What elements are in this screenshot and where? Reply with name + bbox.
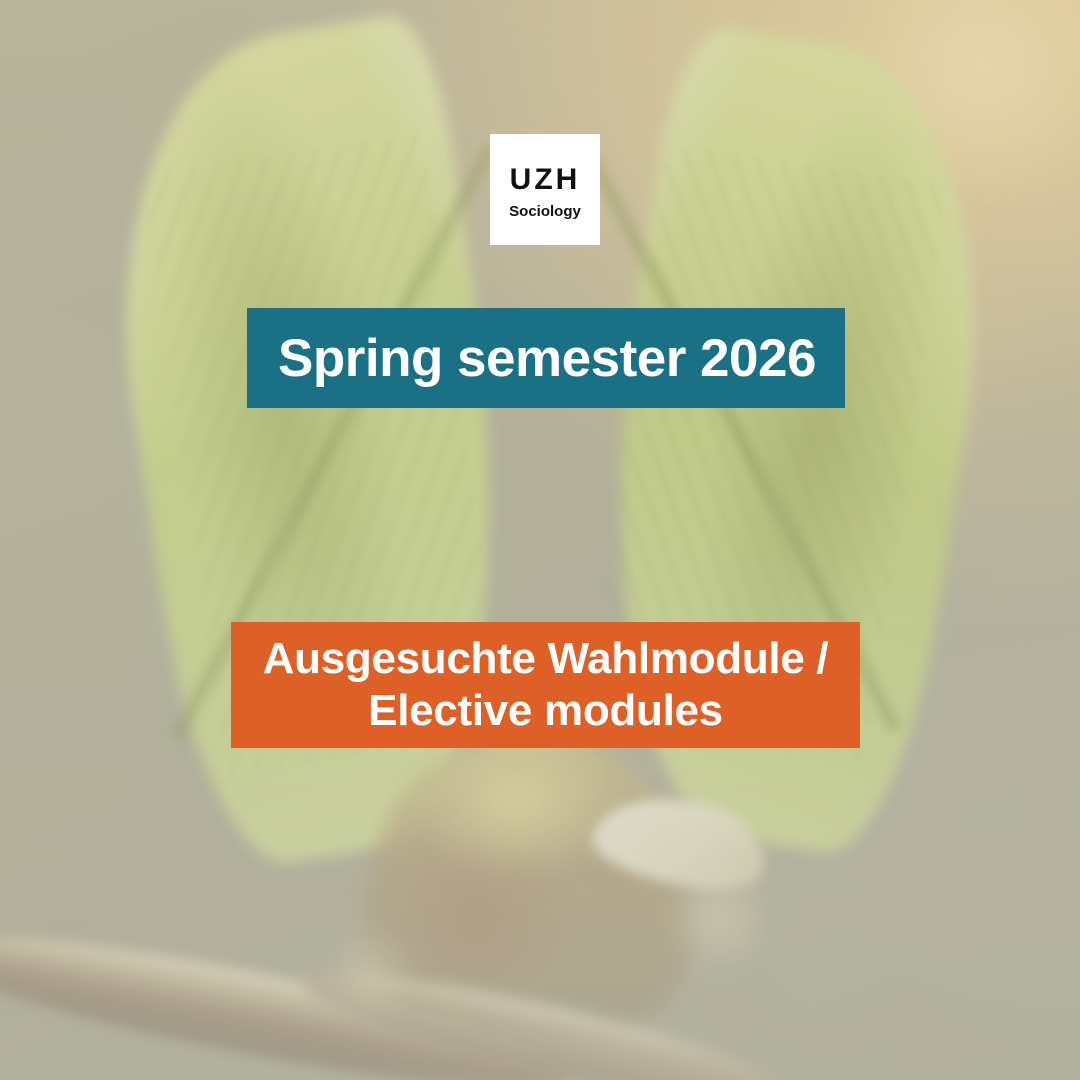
- logo-sub-text: Sociology: [509, 204, 581, 219]
- modules-banner-line-1: Ausgesuchte Wahlmodule /: [263, 633, 829, 685]
- modules-banner-line-2: Elective modules: [368, 685, 723, 737]
- poster-canvas: UZH Sociology Spring semester 2026 Ausge…: [0, 0, 1080, 1080]
- logo-main-text: UZH: [510, 165, 581, 195]
- semester-banner: Spring semester 2026: [247, 308, 845, 408]
- modules-banner: Ausgesuchte Wahlmodule / Elective module…: [231, 622, 860, 748]
- semester-banner-text: Spring semester 2026: [278, 332, 816, 385]
- uzh-sociology-logo: UZH Sociology: [490, 134, 600, 245]
